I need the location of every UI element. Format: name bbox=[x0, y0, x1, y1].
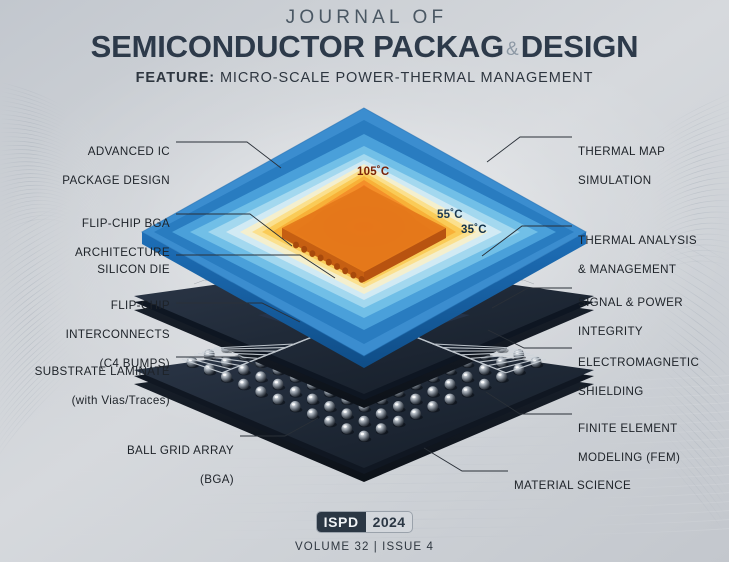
label-line: THERMAL MAP bbox=[578, 145, 728, 159]
feature-label: FEATURE: bbox=[136, 70, 215, 86]
poster-header: JOURNAL OF SEMICONDUCTOR PACKAG&DESIGN F… bbox=[0, 8, 729, 86]
title-part-2: DESIGN bbox=[521, 29, 639, 64]
label-line: (with Vias/Traces) bbox=[0, 394, 170, 408]
label-line: THERMAL ANALYSIS bbox=[578, 234, 728, 248]
label-line: PACKAGE DESIGN bbox=[0, 174, 170, 188]
poster-canvas: JOURNAL OF SEMICONDUCTOR PACKAG&DESIGN F… bbox=[0, 0, 729, 562]
label-advanced-ic-package-design: ADVANCED IC PACKAGE DESIGN bbox=[0, 131, 170, 203]
conference-badge: ISPD 2024 bbox=[316, 511, 414, 533]
temp-ambient-callout: 35˚C bbox=[461, 224, 487, 236]
label-line: ELECTROMAGNETIC bbox=[578, 356, 728, 370]
label-ball-grid-array: BALL GRID ARRAY (BGA) bbox=[44, 430, 234, 502]
label-material-science: MATERIAL SCIENCE bbox=[514, 465, 684, 508]
page-title: SEMICONDUCTOR PACKAG&DESIGN bbox=[0, 31, 729, 64]
volume-issue-line: VOLUME 32 | ISSUE 4 bbox=[0, 541, 729, 553]
label-electromagnetic-shielding: ELECTROMAGNETIC SHIELDING bbox=[578, 342, 728, 414]
label-line: FLIP-CHIP bbox=[0, 299, 170, 313]
label-line: FINITE ELEMENT bbox=[578, 422, 728, 436]
label-line: INTERCONNECTS bbox=[0, 328, 170, 342]
temp-core-callout: 105˚C bbox=[357, 166, 389, 178]
label-substrate-laminate: SUBSTRATE LAMINATE (with Vias/Traces) bbox=[0, 351, 170, 423]
label-line: MATERIAL SCIENCE bbox=[514, 479, 684, 493]
label-line: SILICON DIE bbox=[0, 263, 170, 277]
label-line: INTEGRITY bbox=[578, 325, 728, 339]
label-line: SIMULATION bbox=[578, 174, 728, 188]
label-line: ADVANCED IC bbox=[0, 145, 170, 159]
label-line: FLIP-CHIP BGA bbox=[0, 217, 170, 231]
label-line: MODELING (FEM) bbox=[578, 451, 728, 465]
badge-conference-name: ISPD bbox=[317, 512, 366, 532]
label-line: SUBSTRATE LAMINATE bbox=[0, 365, 170, 379]
feature-value: MICRO-SCALE POWER-THERMAL MANAGEMENT bbox=[220, 70, 593, 86]
temp-mid-callout: 55˚C bbox=[437, 209, 463, 221]
badge-year: 2024 bbox=[366, 512, 413, 532]
journal-kicker: JOURNAL OF bbox=[0, 8, 729, 29]
label-line: SIGNAL & POWER bbox=[578, 296, 728, 310]
feature-subtitle: FEATURE: MICRO-SCALE POWER-THERMAL MANAG… bbox=[0, 70, 729, 86]
label-thermal-map-simulation: THERMAL MAP SIMULATION bbox=[578, 131, 728, 203]
label-line: BALL GRID ARRAY bbox=[44, 444, 234, 458]
label-line: (BGA) bbox=[44, 473, 234, 487]
poster-footer: ISPD 2024 VOLUME 32 | ISSUE 4 bbox=[0, 511, 729, 553]
title-ampersand: & bbox=[504, 39, 521, 60]
title-part-1: SEMICONDUCTOR PACKAG bbox=[91, 29, 504, 64]
label-line: SHIELDING bbox=[578, 385, 728, 399]
label-line: & MANAGEMENT bbox=[578, 263, 728, 277]
